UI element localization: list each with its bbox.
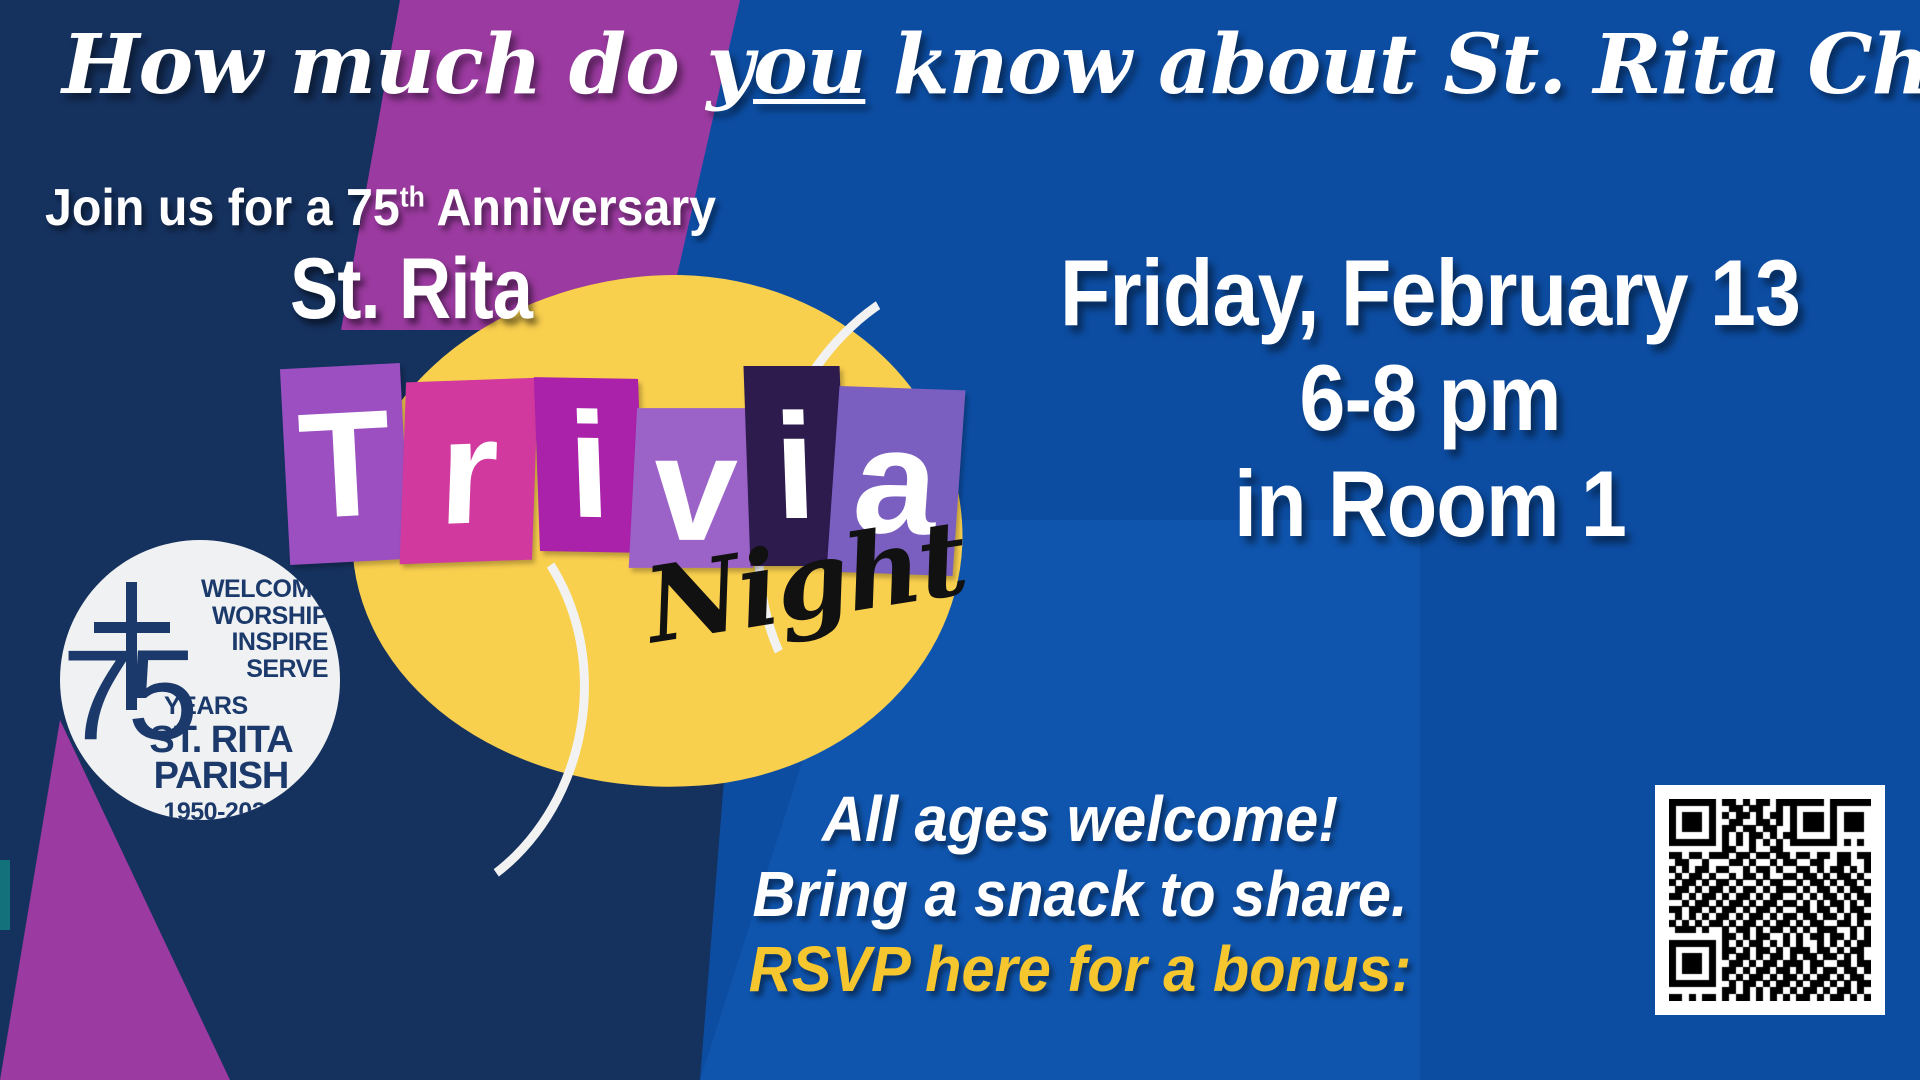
page-headline: How much do you know about St. Rita Chur… xyxy=(62,22,1920,108)
badge-value-welcome: WELCOME xyxy=(128,576,328,603)
headline-underlined: ou xyxy=(753,17,865,113)
poster-canvas: How much do you know about St. Rita Chur… xyxy=(0,0,1920,1080)
event-location: in Room 1 xyxy=(1016,451,1843,556)
badge-parish-line1: ST. RITA xyxy=(106,722,336,758)
trivia-letter-tile: i xyxy=(534,377,644,553)
organization-name: St. Rita xyxy=(290,240,532,339)
cta-line-all-ages: All ages welcome! xyxy=(578,782,1582,857)
headline-before: How much do y xyxy=(62,17,753,113)
event-details: Friday, February 13 6-8 pm in Room 1 xyxy=(960,240,1900,556)
badge-parish-line2: PARISH xyxy=(106,758,336,794)
cta-line-rsvp: RSVP here for a bonus: xyxy=(578,932,1582,1007)
headline-after: know about St. Rita Church? xyxy=(865,17,1920,113)
trivia-letter-tile: T xyxy=(280,363,410,565)
badge-value-worship: WORSHIP xyxy=(128,603,328,630)
subhead-ordinal: th xyxy=(400,182,425,214)
trivia-letter: r xyxy=(437,395,501,547)
trivia-letter: T xyxy=(295,387,394,542)
badge-values-list: WELCOME WORSHIP INSPIRE SERVE xyxy=(128,576,328,682)
cta-line-bring-snack: Bring a snack to share. xyxy=(578,857,1582,932)
badge-value-serve: SERVE xyxy=(128,656,328,683)
event-date: Friday, February 13 xyxy=(1016,240,1843,345)
call-to-action-block: All ages welcome! Bring a snack to share… xyxy=(540,782,1620,1007)
qr-code[interactable] xyxy=(1655,785,1885,1015)
anniversary-subhead: Join us for a 75th Anniversary xyxy=(45,178,716,238)
badge-value-inspire: INSPIRE xyxy=(128,629,328,656)
trivia-letter: i xyxy=(566,390,613,541)
badge-parish-name: ST. RITA PARISH xyxy=(106,722,336,795)
teal-edge-sliver xyxy=(0,860,10,930)
subhead-suffix: Anniversary xyxy=(425,179,716,237)
qr-code-matrix xyxy=(1669,799,1871,1001)
trivia-letter-tile: r xyxy=(400,378,539,565)
badge-years-label: YEARS xyxy=(164,692,248,721)
anniversary-badge: 75 WELCOME WORSHIP INSPIRE SERVE YEARS S… xyxy=(60,540,340,820)
subhead-prefix: Join us for a 75 xyxy=(45,179,400,237)
event-time: 6-8 pm xyxy=(1016,345,1843,450)
badge-date-range: 1950-2025 xyxy=(106,798,336,820)
